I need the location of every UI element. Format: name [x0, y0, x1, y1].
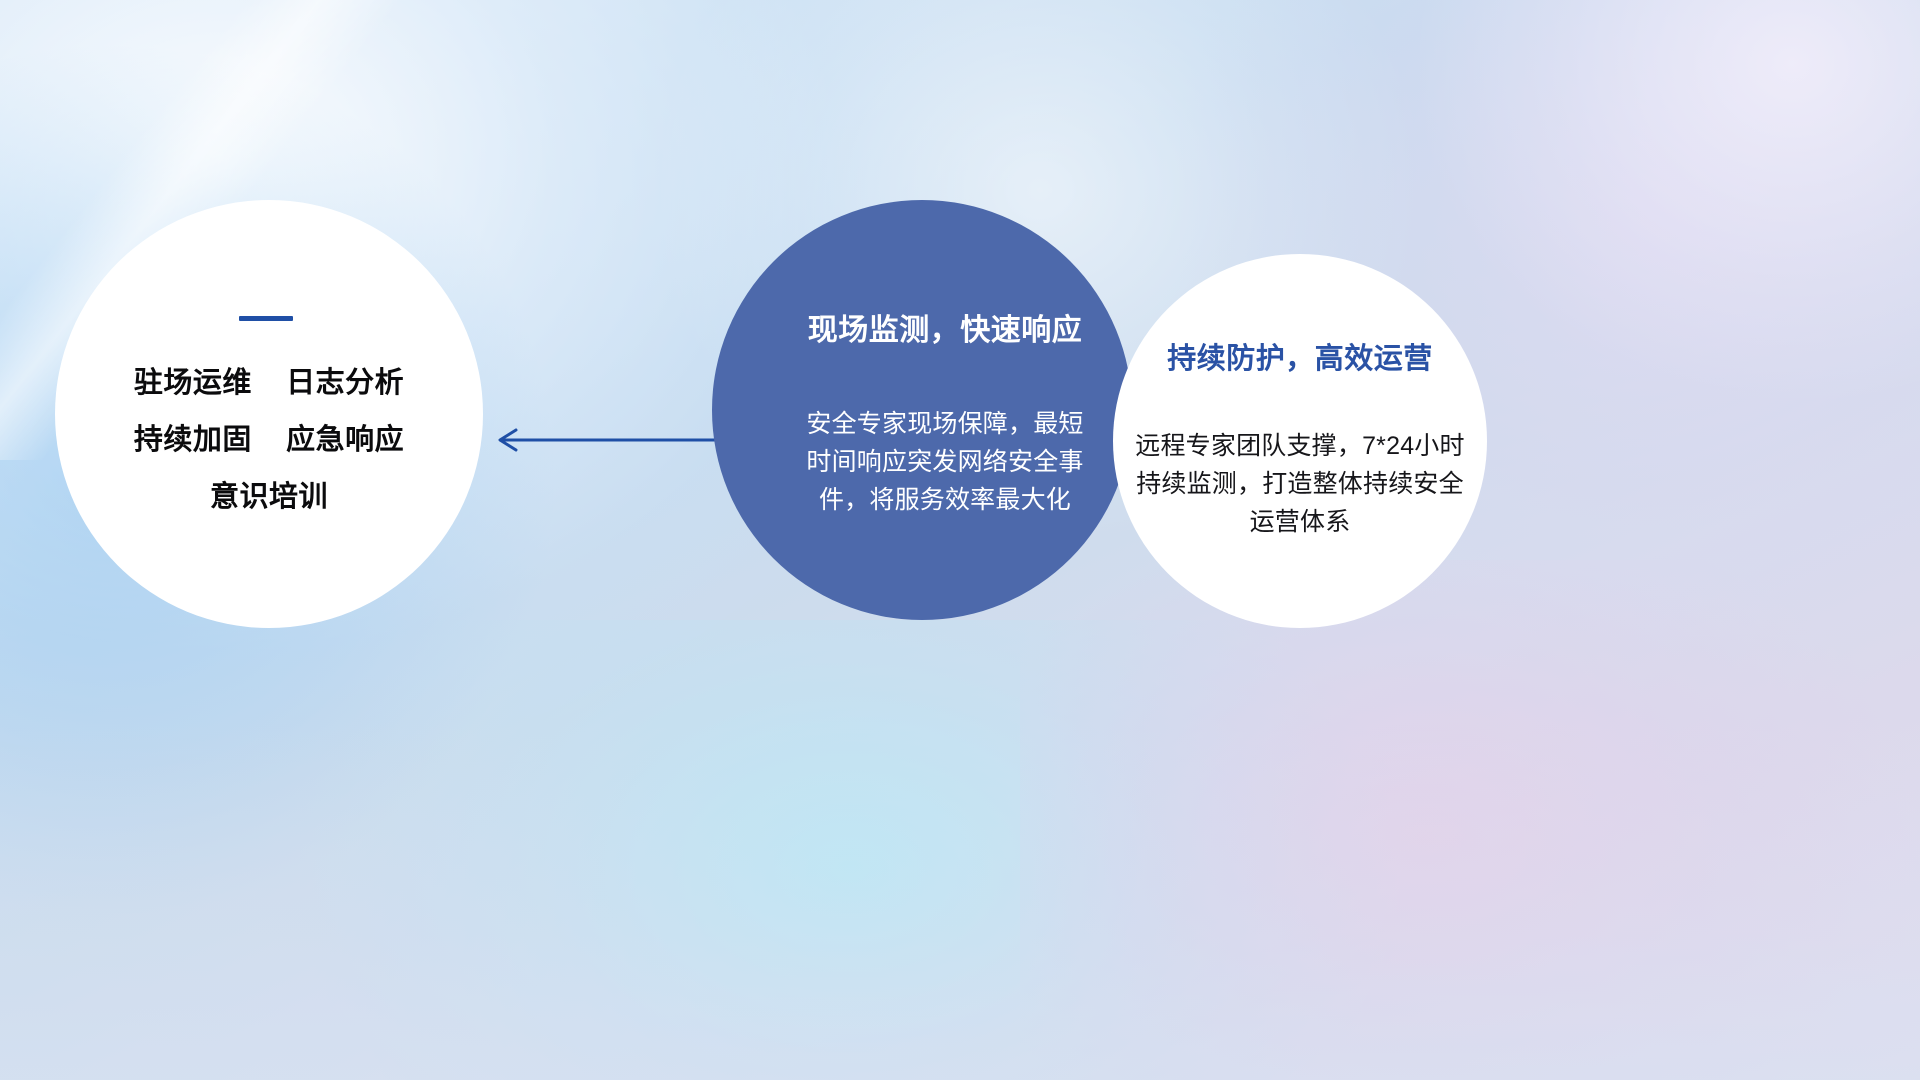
background-bottom-haze — [0, 720, 1920, 1080]
capabilities-circle[interactable]: 驻场运维 日志分析 持续加固 应急响应 意识培训 — [55, 200, 483, 628]
onsite-monitoring-circle[interactable]: 现场监测，快速响应 安全专家现场保障，最短时间响应突发网络安全事件，将服务效率最… — [712, 200, 1132, 620]
continuous-protection-circle[interactable]: 持续防护，高效运营 远程专家团队支撑，7*24小时持续监测，打造整体持续安全运营… — [1113, 254, 1487, 628]
background-glow-corner-tr — [1420, 0, 1920, 400]
onsite-monitoring-heading: 现场监测，快速响应 — [808, 305, 1083, 349]
capability-line-2: 持续加固 应急响应 — [134, 426, 404, 455]
slide-canvas: 驻场运维 日志分析 持续加固 应急响应 意识培训 现场监测，快速响应 安全专家现… — [0, 0, 1920, 1080]
continuous-protection-body: 远程专家团队支撑，7*24小时持续监测，打造整体持续安全运营体系 — [1131, 427, 1469, 541]
blue-divider-dash — [239, 316, 293, 321]
capability-line-1: 驻场运维 日志分析 — [134, 369, 404, 398]
onsite-monitoring-body: 安全专家现场保障，最短时间响应突发网络安全事件，将服务效率最大化 — [804, 405, 1086, 519]
capability-line-3: 意识培训 — [210, 483, 328, 512]
continuous-protection-heading: 持续防护，高效运营 — [1167, 335, 1433, 377]
connector-arrow — [480, 418, 720, 462]
